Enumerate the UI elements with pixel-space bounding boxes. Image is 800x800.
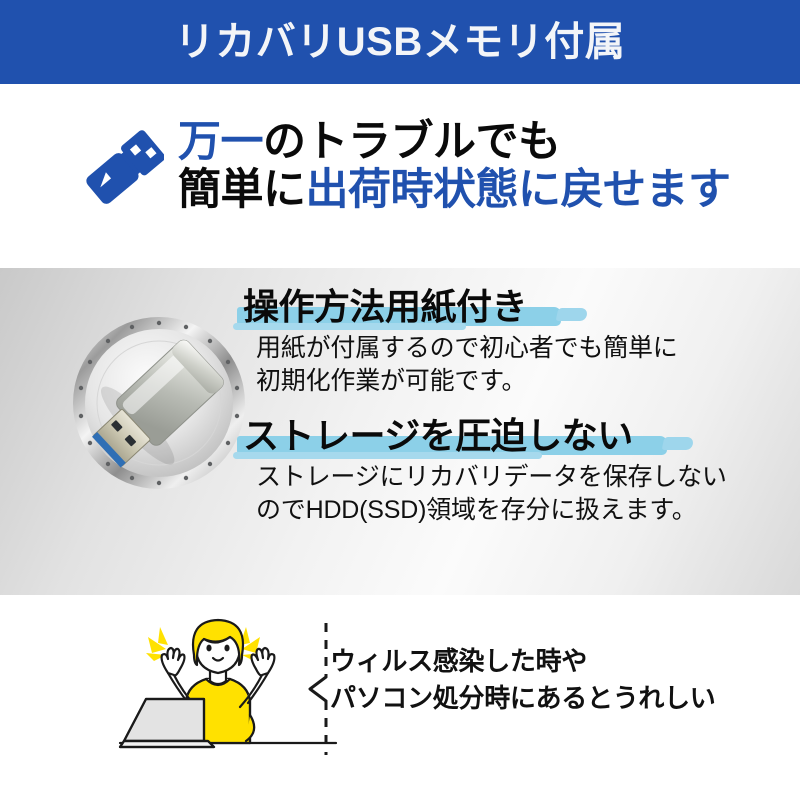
bottom-section: ウィルス感染した時や パソコン処分時にあるとうれしい [0, 595, 800, 800]
feature-2-heading: ストレージを圧迫しない [243, 415, 633, 456]
hero-line-1: 万一のトラブルでも [178, 118, 731, 166]
promo-page: リカバリUSBメモリ付属 [0, 0, 800, 800]
feature-1-body-line-1: 用紙が付属するので初心者でも簡単に [256, 332, 783, 366]
features-section: 操作方法用紙付き 用紙が付属するので初心者でも簡単に 初期化作業が可能です。 ス… [0, 268, 800, 595]
hero-line-2: 簡単に出荷時状態に戻せます [178, 166, 731, 214]
usb-flash-drive-icon [78, 124, 164, 216]
usb-memory-product-photo [62, 306, 257, 501]
bottom-caption-line-2: パソコン処分時にあるとうれしい [330, 680, 716, 717]
feature-list: 操作方法用紙付き 用紙が付属するので初心者でも簡単に 初期化作業が可能です。 ス… [243, 286, 783, 528]
bottom-caption-line-1: ウィルス感染した時や [330, 643, 716, 680]
hero-text: 万一のトラブルでも 簡単に出荷時状態に戻せます [178, 118, 731, 214]
bottom-caption: ウィルス感染した時や パソコン処分時にあるとうれしい [330, 643, 716, 717]
feature-item-1: 操作方法用紙付き 用紙が付属するので初心者でも簡単に 初期化作業が可能です。 [243, 286, 783, 399]
hero-line1-rest: のトラブルでも [263, 118, 561, 166]
feature-1-heading-wrap: 操作方法用紙付き [243, 286, 527, 328]
banner-title: リカバリUSBメモリ付属 [175, 22, 625, 62]
hero-inner: 万一のトラブルでも 簡単に出荷時状態に戻せます [78, 118, 731, 216]
hero-line2-lead: 簡単に [178, 166, 306, 214]
hero-line2-highlight: 出荷時状態に戻せます [306, 166, 731, 214]
feature-2-body-line-2: のでHDD(SSD)領域を存分に扱えます。 [256, 494, 783, 528]
feature-1-heading: 操作方法用紙付き [243, 286, 527, 327]
feature-1-body-line-2: 初期化作業が可能です。 [256, 365, 783, 399]
header-banner: リカバリUSBメモリ付属 [0, 0, 800, 84]
hero-line1-highlight: 万一 [178, 118, 263, 166]
feature-2-heading-wrap: ストレージを圧迫しない [243, 415, 633, 457]
hero-section: 万一のトラブルでも 簡単に出荷時状態に戻せます [0, 84, 800, 268]
feature-2-body-line-1: ストレージにリカバリデータを保存しない [256, 461, 783, 495]
feature-item-2: ストレージを圧迫しない ストレージにリカバリデータを保存しない のでHDD(SS… [243, 415, 783, 528]
